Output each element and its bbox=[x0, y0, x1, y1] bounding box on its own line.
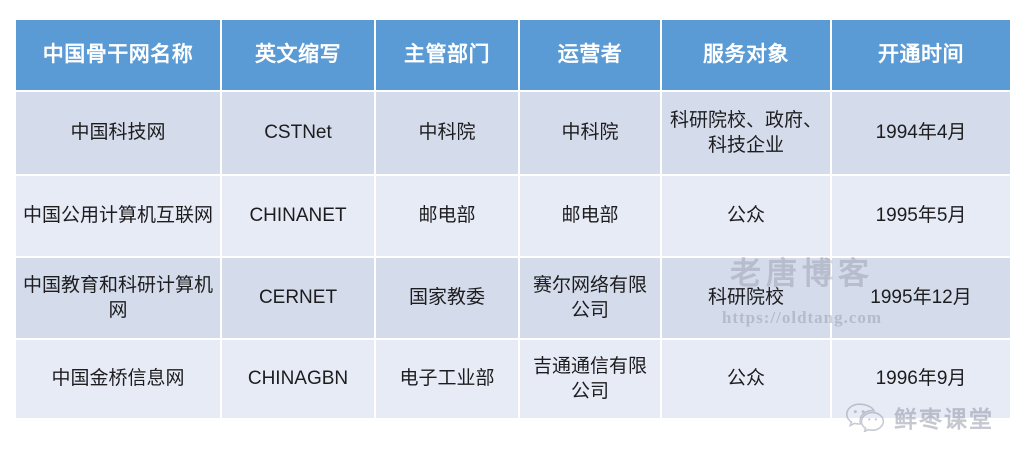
cell-audience: 公众 bbox=[662, 176, 830, 256]
cell-network-name: 中国金桥信息网 bbox=[16, 340, 220, 418]
cell-abbreviation: CSTNet bbox=[222, 92, 374, 174]
table-header-row: 中国骨干网名称 英文缩写 主管部门 运营者 服务对象 开通时间 bbox=[16, 20, 1010, 90]
cell-authority: 邮电部 bbox=[376, 176, 518, 256]
cell-audience: 科研院校、政府、科技企业 bbox=[662, 92, 830, 174]
column-header-operator: 运营者 bbox=[520, 20, 660, 90]
table-row: 中国教育和科研计算机网 CERNET 国家教委 赛尔网络有限公司 科研院校 19… bbox=[16, 258, 1010, 338]
cell-launch-date: 1995年12月 bbox=[832, 258, 1010, 338]
table-header: 中国骨干网名称 英文缩写 主管部门 运营者 服务对象 开通时间 bbox=[16, 20, 1010, 90]
cell-operator: 赛尔网络有限公司 bbox=[520, 258, 660, 338]
backbone-network-table: 中国骨干网名称 英文缩写 主管部门 运营者 服务对象 开通时间 中国科技网 CS… bbox=[14, 18, 1012, 420]
cell-operator: 邮电部 bbox=[520, 176, 660, 256]
cell-network-name: 中国公用计算机互联网 bbox=[16, 176, 220, 256]
cell-authority: 电子工业部 bbox=[376, 340, 518, 418]
column-header-network-name: 中国骨干网名称 bbox=[16, 20, 220, 90]
cell-abbreviation: CHINAGBN bbox=[222, 340, 374, 418]
cell-authority: 国家教委 bbox=[376, 258, 518, 338]
cell-launch-date: 1996年9月 bbox=[832, 340, 1010, 418]
cell-abbreviation: CERNET bbox=[222, 258, 374, 338]
column-header-abbreviation: 英文缩写 bbox=[222, 20, 374, 90]
column-header-audience: 服务对象 bbox=[662, 20, 830, 90]
table-row: 中国科技网 CSTNet 中科院 中科院 科研院校、政府、科技企业 1994年4… bbox=[16, 92, 1010, 174]
cell-launch-date: 1994年4月 bbox=[832, 92, 1010, 174]
cell-network-name: 中国教育和科研计算机网 bbox=[16, 258, 220, 338]
table-body: 中国科技网 CSTNet 中科院 中科院 科研院校、政府、科技企业 1994年4… bbox=[16, 92, 1010, 418]
cell-operator: 吉通通信有限公司 bbox=[520, 340, 660, 418]
cell-launch-date: 1995年5月 bbox=[832, 176, 1010, 256]
cell-network-name: 中国科技网 bbox=[16, 92, 220, 174]
column-header-authority: 主管部门 bbox=[376, 20, 518, 90]
cell-operator: 中科院 bbox=[520, 92, 660, 174]
table-row: 中国金桥信息网 CHINAGBN 电子工业部 吉通通信有限公司 公众 1996年… bbox=[16, 340, 1010, 418]
cell-audience: 公众 bbox=[662, 340, 830, 418]
table-row: 中国公用计算机互联网 CHINANET 邮电部 邮电部 公众 1995年5月 bbox=[16, 176, 1010, 256]
backbone-network-table-container: 中国骨干网名称 英文缩写 主管部门 运营者 服务对象 开通时间 中国科技网 CS… bbox=[14, 18, 1012, 426]
cell-authority: 中科院 bbox=[376, 92, 518, 174]
column-header-launch-date: 开通时间 bbox=[832, 20, 1010, 90]
cell-audience: 科研院校 bbox=[662, 258, 830, 338]
screenshot-canvas: 中国骨干网名称 英文缩写 主管部门 运营者 服务对象 开通时间 中国科技网 CS… bbox=[0, 0, 1024, 463]
cell-abbreviation: CHINANET bbox=[222, 176, 374, 256]
